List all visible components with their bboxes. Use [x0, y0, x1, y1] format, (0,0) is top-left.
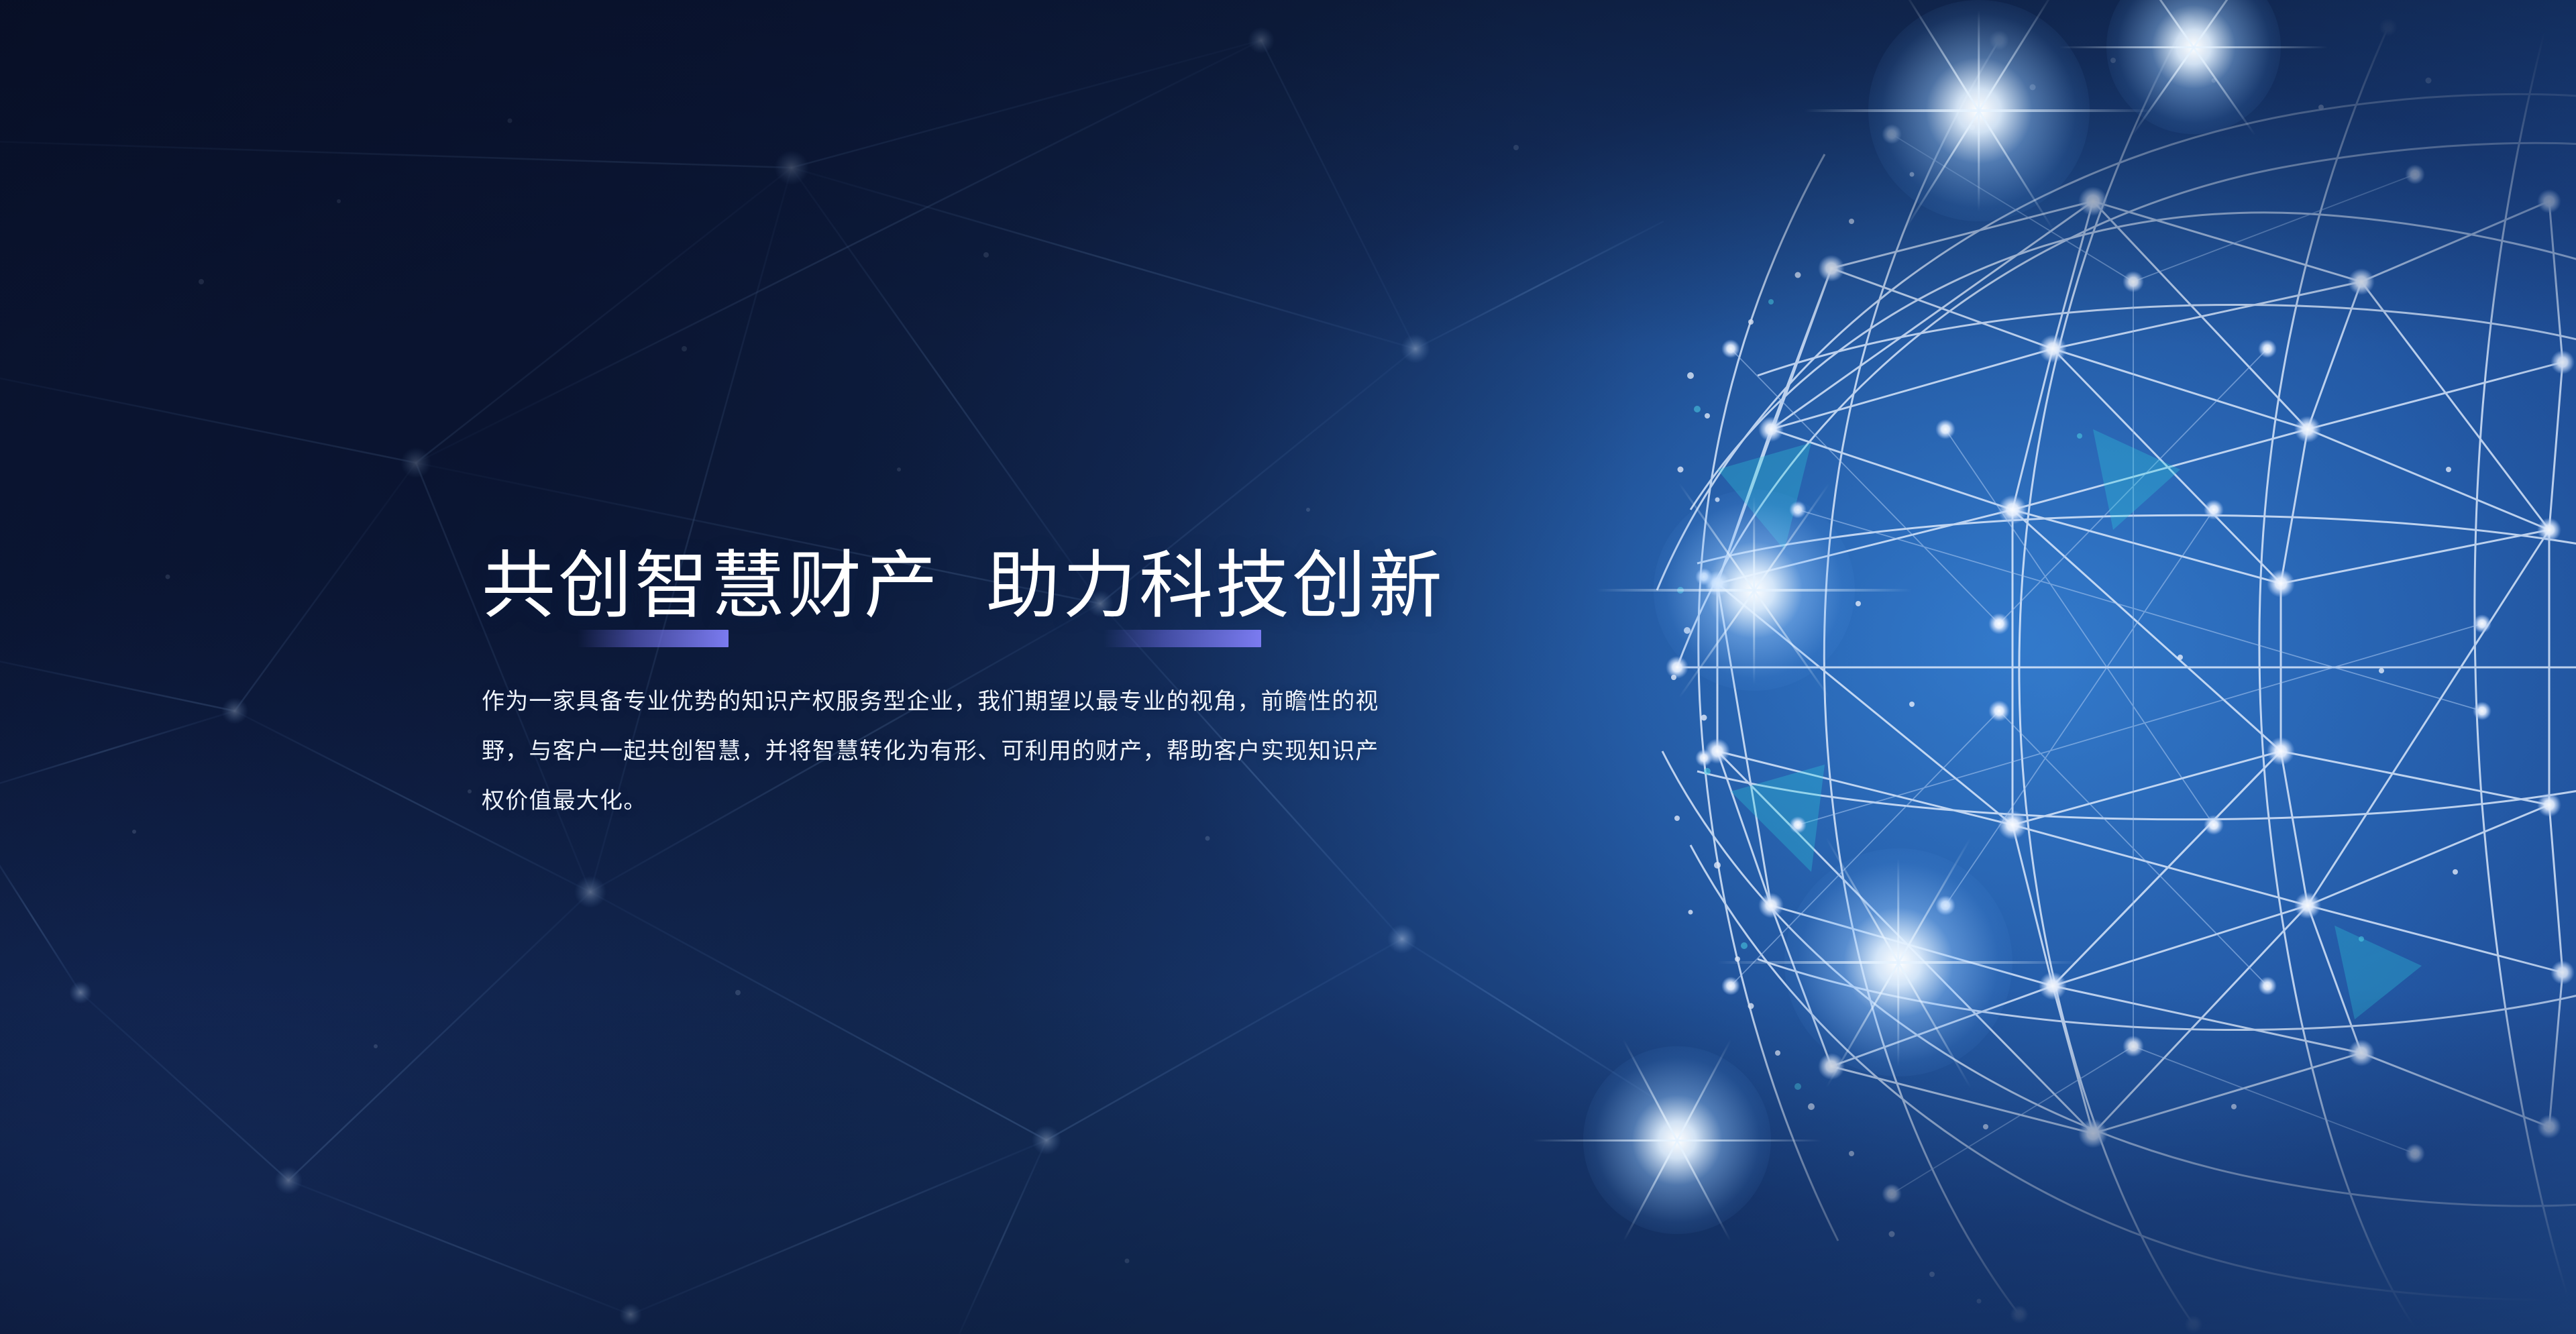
banner-content: 共创智慧财产 助力科技创新 作为一家具备专业优势的知识产权服务型企业，我们期望以… — [482, 545, 1421, 848]
headline-phrase-two: 助力科技创新 — [986, 545, 1445, 647]
headline-phrase-one: 共创智慧财产 — [482, 545, 941, 647]
headline-accent-bar-two — [1104, 630, 1261, 647]
headline-phrase-one-text: 共创智慧财产 — [482, 545, 941, 627]
page-title: 共创智慧财产 助力科技创新 — [482, 545, 1421, 647]
hero-banner: 共创智慧财产 助力科技创新 作为一家具备专业优势的知识产权服务型企业，我们期望以… — [0, 0, 2576, 1334]
banner-description: 作为一家具备专业优势的知识产权服务型企业，我们期望以最专业的视角，前瞻性的视野，… — [482, 677, 1384, 826]
headline-accent-bar-one — [578, 630, 729, 647]
headline-phrase-two-text: 助力科技创新 — [986, 545, 1445, 627]
